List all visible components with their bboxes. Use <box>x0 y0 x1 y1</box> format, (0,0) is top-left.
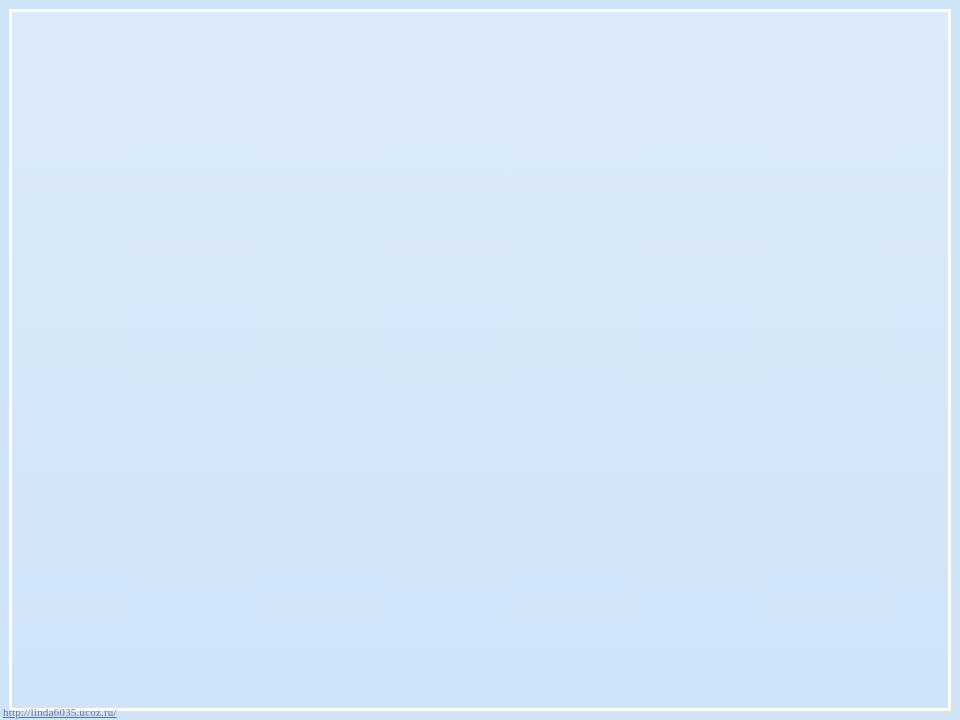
ruler-icon: 0 1 2 3 4 5 6 7 8 9 10 <box>27 112 105 697</box>
school-supplies-icon <box>748 546 948 706</box>
svg-text:4: 4 <box>68 209 82 216</box>
owl-graduate-icon <box>22 14 126 126</box>
solution-line-5: А <box>112 357 902 389</box>
svg-text:22: 22 <box>68 620 82 634</box>
svg-text:21: 21 <box>68 597 82 611</box>
solution-line-3: остальные 14 будут в других группах. Вер… <box>112 293 902 325</box>
svg-text:18: 18 <box>68 528 82 542</box>
problem-statement-line-1: В классе 21 шестиклассник, среди них два… <box>112 73 902 104</box>
svg-text:14: 14 <box>68 436 82 450</box>
svg-text:10: 10 <box>68 344 82 358</box>
solution-line-4: друг окажется среди этих 14 человек, рав… <box>112 325 902 357</box>
svg-text:7: 7 <box>68 278 82 285</box>
solution-answer: Ответ: 0,7. <box>112 389 902 421</box>
svg-text:13: 13 <box>68 413 82 427</box>
svg-text:24: 24 <box>68 666 82 680</box>
svg-text:8: 8 <box>44 573 58 580</box>
svg-text:8: 8 <box>68 301 82 308</box>
svg-text:6: 6 <box>68 255 82 262</box>
svg-text:11: 11 <box>68 367 82 380</box>
svg-text:23: 23 <box>68 643 82 657</box>
svg-text:4: 4 <box>44 345 58 352</box>
svg-text:2: 2 <box>44 231 58 238</box>
svg-text:6: 6 <box>44 459 58 466</box>
svg-text:5: 5 <box>68 232 82 239</box>
problem-text-block: Задача 5 В классе 21 шестиклассник, сред… <box>112 42 902 421</box>
solution-label: Решение. <box>112 197 902 229</box>
svg-text:3: 3 <box>44 288 58 295</box>
svg-text:19: 19 <box>68 551 82 565</box>
problem-heading: Задача 5 <box>112 42 902 73</box>
solution-line-1: Пусть один из друзей находится в некотор… <box>112 229 902 261</box>
svg-text:7: 7 <box>44 516 58 523</box>
svg-text:25: 25 <box>68 683 82 697</box>
svg-text:16: 16 <box>68 482 82 496</box>
problem-statement-line-3: каждой. Найдите вероятность того, что Ми… <box>112 135 902 166</box>
svg-text:9: 9 <box>44 630 58 637</box>
svg-text:2: 2 <box>68 163 82 170</box>
svg-text:3: 3 <box>68 186 82 193</box>
svg-text:10: 10 <box>46 681 60 695</box>
watermark-url[interactable]: http://linda6035.ucoz.ru/ <box>3 707 117 719</box>
svg-text:1: 1 <box>68 140 82 147</box>
paperclip-character-icon <box>866 2 952 110</box>
svg-text:1: 1 <box>44 174 58 181</box>
slide-canvas: 0 1 2 3 4 5 6 7 8 9 10 <box>0 0 960 720</box>
svg-text:0: 0 <box>44 117 58 124</box>
problem-statement-line-2: Класс случайным образом делят на три гру… <box>112 104 902 135</box>
svg-text:0: 0 <box>68 117 82 124</box>
svg-text:5: 5 <box>44 402 58 409</box>
svg-text:20: 20 <box>68 574 82 588</box>
problem-statement-line-4: разных группах. <box>112 166 902 197</box>
svg-text:9: 9 <box>68 324 82 331</box>
svg-text:17: 17 <box>68 505 82 519</box>
solution-line-2: группе окажутся 6 человек из 20Аоставших… <box>112 261 902 293</box>
svg-text:12: 12 <box>68 390 82 404</box>
svg-text:15: 15 <box>68 459 82 473</box>
